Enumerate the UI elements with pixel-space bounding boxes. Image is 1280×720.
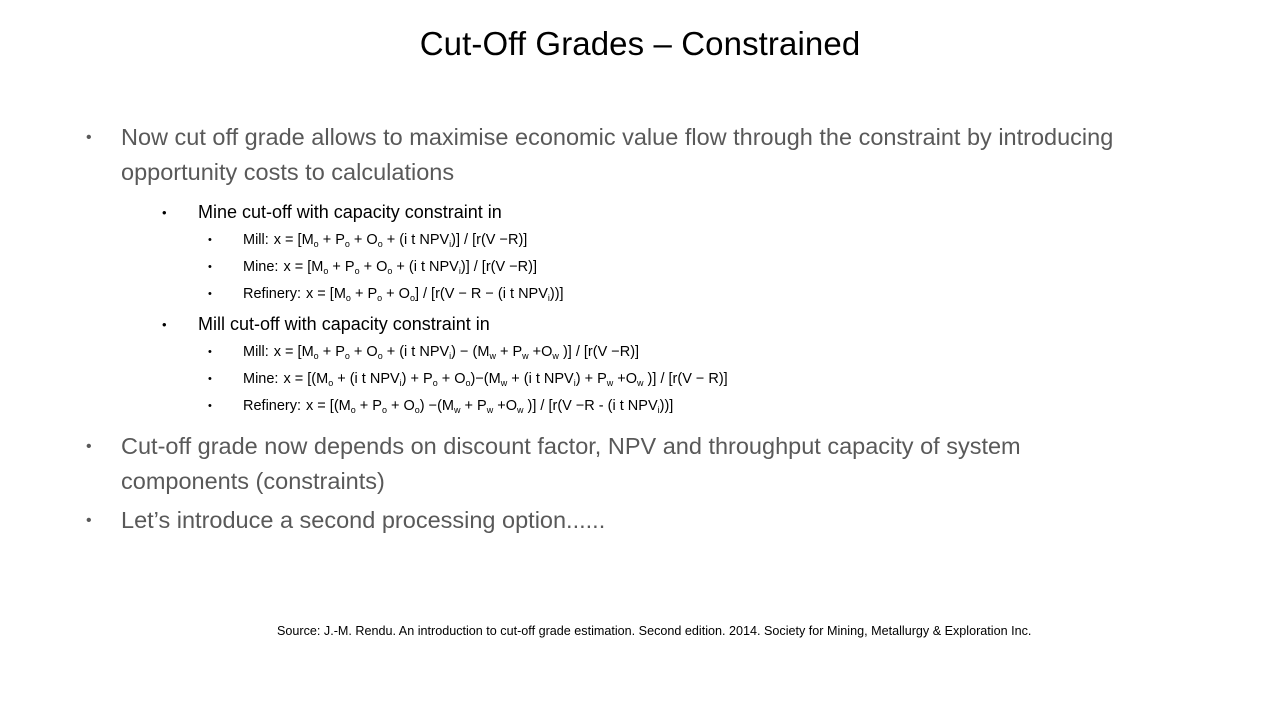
bullet-marker-icon: • bbox=[86, 429, 121, 464]
formula-label: Refinery: bbox=[243, 398, 301, 414]
main-bullet-3-text: Let’s introduce a second processing opti… bbox=[121, 503, 1146, 538]
bullet-marker-icon: • bbox=[208, 254, 243, 281]
formula-label: Refinery: bbox=[243, 286, 301, 302]
formula-row: Mine:x = [Mo + Po + Oo + (i t NPVi)] / [… bbox=[243, 254, 1186, 281]
section-1-heading-text: Mine cut-off with capacity constraint in bbox=[198, 199, 1186, 226]
bullet-marker-icon: • bbox=[208, 281, 243, 308]
bullet-marker-icon: • bbox=[86, 503, 121, 538]
formula-expression: x = [Mo + Po + Oo + (i t NPVi) − (Mw + P… bbox=[274, 344, 639, 360]
section-2-heading: • Mill cut-off with capacity constraint … bbox=[162, 311, 1186, 338]
slide: Cut-Off Grades – Constrained • Now cut o… bbox=[0, 0, 1280, 720]
formula-row: Refinery:x = [(Mo + Po + Oo) −(Mw + Pw +… bbox=[243, 393, 1186, 420]
formula-label: Mill: bbox=[243, 344, 269, 360]
formula-row: Refinery:x = [Mo + Po + Oo] / [r(V − R −… bbox=[243, 281, 1186, 308]
bullet-marker-icon: • bbox=[208, 366, 243, 393]
formula-row: Mill:x = [Mo + Po + Oo + (i t NPVi)] / [… bbox=[243, 227, 1186, 254]
section-2-formula-mine: • Mine:x = [(Mo + (i t NPVi) + Po + Oo)−… bbox=[208, 366, 1186, 393]
section-1-formula-mine: • Mine:x = [Mo + Po + Oo + (i t NPVi)] /… bbox=[208, 254, 1186, 281]
formula-expression: x = [Mo + Po + Oo + (i t NPVi)] / [r(V −… bbox=[283, 259, 537, 275]
main-bullet-1-text: Now cut off grade allows to maximise eco… bbox=[121, 120, 1146, 190]
bullet-marker-icon: • bbox=[208, 339, 243, 366]
formula-label: Mill: bbox=[243, 232, 269, 248]
formula-row: Mine:x = [(Mo + (i t NPVi) + Po + Oo)−(M… bbox=[243, 366, 1186, 393]
bullet-marker-icon: • bbox=[208, 227, 243, 254]
section-1-formula-mill: • Mill:x = [Mo + Po + Oo + (i t NPVi)] /… bbox=[208, 227, 1186, 254]
main-bullet-2-text: Cut-off grade now depends on discount fa… bbox=[121, 429, 1146, 499]
source-citation: Source: J.-M. Rendu. An introduction to … bbox=[277, 623, 1037, 640]
section-1-heading: • Mine cut-off with capacity constraint … bbox=[162, 199, 1186, 226]
bullet-marker-icon: • bbox=[208, 393, 243, 420]
main-bullet-1: • Now cut off grade allows to maximise e… bbox=[86, 120, 1186, 190]
formula-row: Mill:x = [Mo + Po + Oo + (i t NPVi) − (M… bbox=[243, 339, 1186, 366]
bullet-marker-icon: • bbox=[162, 311, 198, 338]
section-2-formula-refinery: • Refinery:x = [(Mo + Po + Oo) −(Mw + Pw… bbox=[208, 393, 1186, 420]
bullet-marker-icon: • bbox=[162, 199, 198, 226]
main-bullet-3: • Let’s introduce a second processing op… bbox=[86, 503, 1186, 538]
main-bullet-2: • Cut-off grade now depends on discount … bbox=[86, 429, 1186, 499]
formula-expression: x = [(Mo + (i t NPVi) + Po + Oo)−(Mw + (… bbox=[283, 371, 727, 387]
formula-label: Mine: bbox=[243, 259, 278, 275]
formula-expression: x = [Mo + Po + Oo] / [r(V − R − (i t NPV… bbox=[306, 286, 564, 302]
section-2-heading-text: Mill cut-off with capacity constraint in bbox=[198, 311, 1186, 338]
section-2-formula-mill: • Mill:x = [Mo + Po + Oo + (i t NPVi) − … bbox=[208, 339, 1186, 366]
formula-label: Mine: bbox=[243, 371, 278, 387]
formula-expression: x = [(Mo + Po + Oo) −(Mw + Pw +Ow )] / [… bbox=[306, 398, 673, 414]
page-title: Cut-Off Grades – Constrained bbox=[64, 22, 1216, 66]
slide-body: • Now cut off grade allows to maximise e… bbox=[86, 120, 1186, 542]
section-1-formula-refinery: • Refinery:x = [Mo + Po + Oo] / [r(V − R… bbox=[208, 281, 1186, 308]
formula-expression: x = [Mo + Po + Oo + (i t NPVi)] / [r(V −… bbox=[274, 232, 528, 248]
bullet-marker-icon: • bbox=[86, 120, 121, 155]
